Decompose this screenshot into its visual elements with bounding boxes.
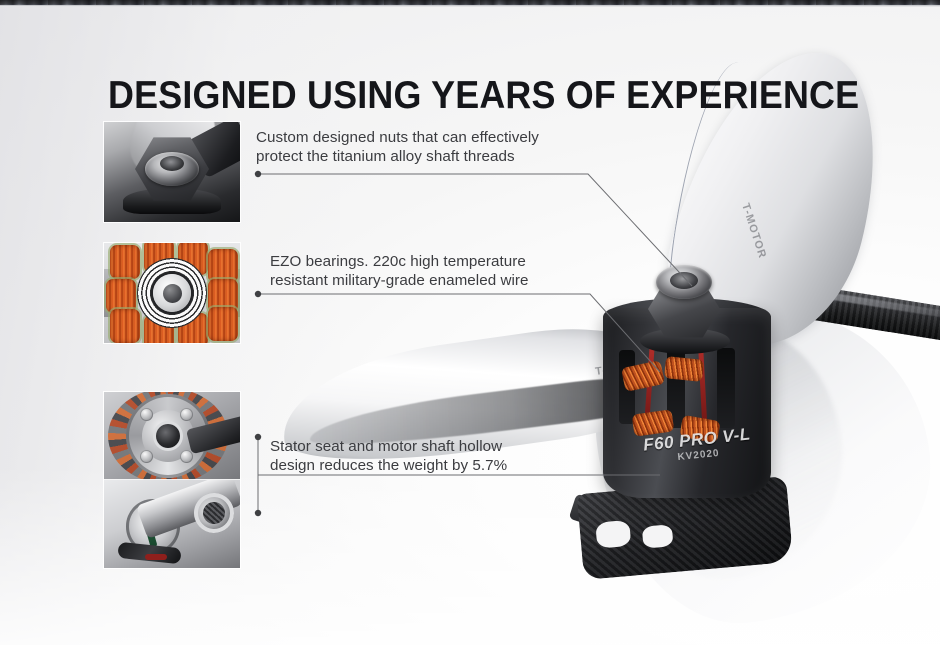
copper-coil: [110, 309, 140, 343]
thumbnail-hollow-shaft-image: [104, 480, 240, 568]
stator-screw: [180, 408, 193, 421]
bearing-bore: [163, 284, 182, 303]
callout-stator-line2: design reduces the weight by 5.7%: [270, 456, 507, 475]
copper-coil: [106, 279, 136, 313]
motor-wire-red: [145, 554, 167, 560]
thumbnail-lock-nut: [104, 122, 240, 222]
page-title: DESIGNED USING YEARS OF EXPERIENCE: [108, 74, 859, 118]
thumbnail-hollow-shaft: [104, 480, 240, 568]
callout-bearings: EZO bearings. 220c high temperature resi…: [270, 252, 529, 290]
stator-screw: [140, 450, 153, 463]
stator-center-bore: [156, 424, 180, 448]
thumbnail-bearing: [104, 243, 240, 343]
thumbnail-stator-seat-image: [104, 392, 240, 480]
thumbnail-stator-seat: [104, 392, 240, 480]
copper-coil: [110, 245, 140, 279]
callout-nuts: Custom designed nuts that can effectivel…: [256, 128, 539, 166]
top-photo-strip: [0, 0, 940, 7]
callout-stator-line1: Stator seat and motor shaft hollow: [270, 437, 507, 456]
callout-stator: Stator seat and motor shaft hollow desig…: [270, 437, 507, 475]
callout-bearings-line2: resistant military-grade enameled wire: [270, 271, 529, 290]
callout-nuts-line2: protect the titanium alloy shaft threads: [256, 147, 539, 166]
infographic-canvas: T-MOTOR T-MOTOR F60 PRO V-L KV2020: [0, 0, 940, 645]
copper-coil: [208, 307, 238, 341]
nut-bore: [160, 156, 184, 171]
thumbnail-lock-nut-image: [104, 122, 240, 222]
stator-screw: [140, 408, 153, 421]
thumbnail-bearing-image: [104, 243, 240, 343]
stator-screw: [180, 450, 193, 463]
callout-bearings-line1: EZO bearings. 220c high temperature: [270, 252, 529, 271]
copper-coil: [208, 249, 238, 283]
callout-nuts-line1: Custom designed nuts that can effectivel…: [256, 128, 539, 147]
